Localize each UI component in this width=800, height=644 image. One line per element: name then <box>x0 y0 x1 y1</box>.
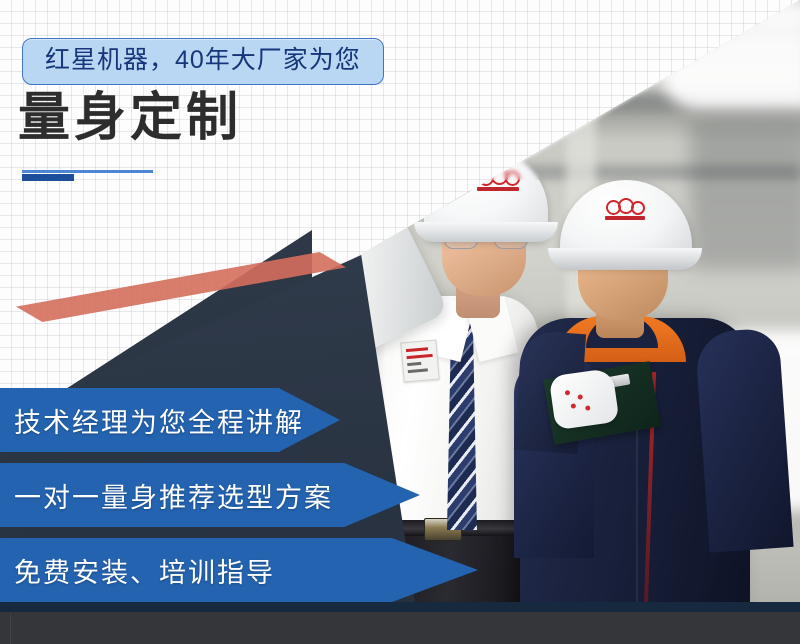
bottom-dark-strip <box>0 612 800 644</box>
engineer-helmet-brim <box>414 222 558 242</box>
feature-bar: 免费安装、培训指导 <box>0 538 478 602</box>
tagline-pill: 红星机器，40年大厂家为您 <box>22 38 384 85</box>
feature-bars: 技术经理为您全程讲解 一对一量身推荐选型方案 免费安装、培训指导 <box>0 388 480 602</box>
banner-stage: 红星机器，40年大厂家为您 量身定制 技术经理为您全程讲解 一对一量身推荐选型方… <box>0 0 800 644</box>
worker-helmet-brim <box>548 248 702 270</box>
feature-bar-label: 技术经理为您全程讲解 <box>0 401 304 440</box>
engineer-badge <box>400 340 439 383</box>
worker-helmet-logo-icon <box>604 198 646 226</box>
title-underline-thick <box>22 174 74 181</box>
worker-right-arm <box>694 327 793 552</box>
worker-white-glove <box>549 368 620 430</box>
feature-bar-label: 免费安装、培训指导 <box>0 551 275 590</box>
feature-bar-label: 一对一量身推荐选型方案 <box>0 476 333 515</box>
title-underline-thin <box>22 170 153 173</box>
page-title: 量身定制 <box>18 90 242 147</box>
bottom-strip-divider <box>10 614 11 644</box>
feature-bar: 技术经理为您全程讲解 <box>0 388 340 452</box>
feature-bar: 一对一量身推荐选型方案 <box>0 463 420 527</box>
